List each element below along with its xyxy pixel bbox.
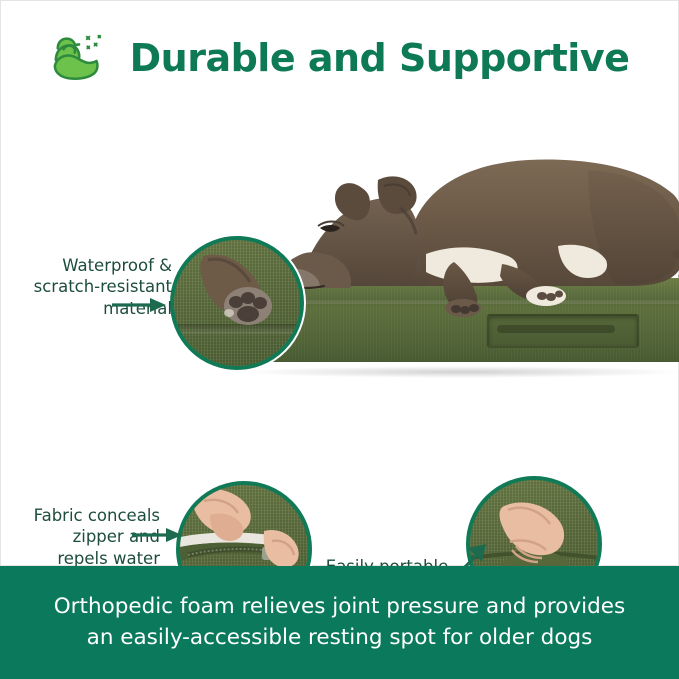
right-arrow-icon-waterproof bbox=[112, 296, 168, 319]
dog-photo bbox=[258, 136, 679, 316]
paw-on-fabric-inset bbox=[170, 236, 304, 370]
handle-slot bbox=[497, 325, 615, 333]
page-title: Durable and Supportive bbox=[130, 36, 630, 80]
flexing-bicep-icon bbox=[50, 27, 112, 89]
right-arrow-icon-zipper bbox=[132, 526, 184, 549]
bottom-banner: Orthopedic foam relieves joint pressure … bbox=[0, 566, 679, 679]
annotation-handle: Easily portable with built-in handle bbox=[322, 556, 452, 566]
zipper-closeup-inset bbox=[176, 481, 312, 566]
annotation-waterproof-line-1: Waterproof & bbox=[22, 255, 172, 276]
diagonal-up-right-arrow-icon-handle bbox=[440, 542, 494, 566]
header: Durable and Supportive bbox=[0, 18, 679, 98]
annotation-zipper-line-1: Fabric conceals bbox=[12, 505, 160, 526]
product-infographic: Durable and Supportive BB bbox=[0, 0, 679, 679]
annotation-zipper-line-3: repels water bbox=[12, 548, 160, 566]
banner-line-1: Orthopedic foam relieves joint pressure … bbox=[54, 592, 625, 623]
photo-stage: BB bbox=[0, 100, 679, 566]
banner-line-2: an easily-accessible resting spot for ol… bbox=[87, 623, 593, 654]
annotation-handle-line-1: Easily portable bbox=[322, 556, 452, 566]
annotation-waterproof-line-2: scratch-resistant bbox=[22, 276, 172, 297]
